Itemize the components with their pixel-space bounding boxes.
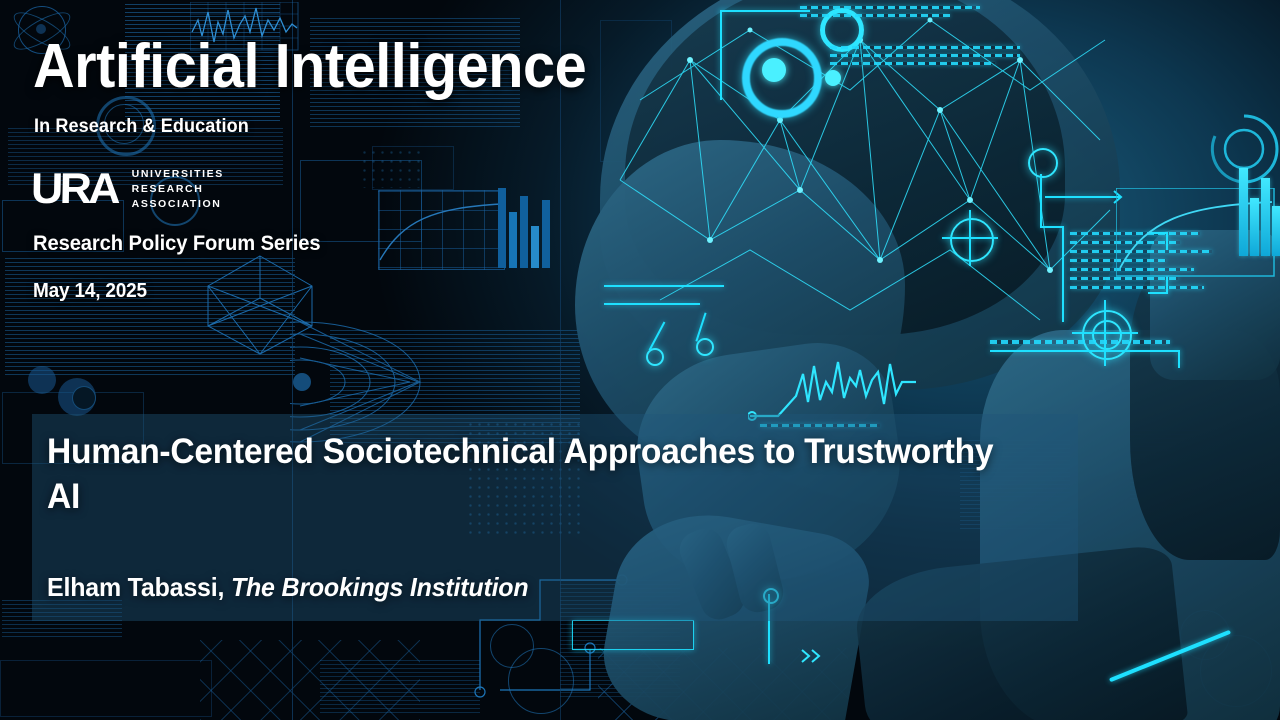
- ura-logo-text: UNIVERSITIES RESEARCH ASSOCIATION: [124, 168, 224, 212]
- hud-panel: [572, 620, 694, 650]
- hud-bracket: [1148, 292, 1168, 294]
- hud-connector: [1045, 196, 1113, 198]
- hud-bar-chart-bar: [1272, 206, 1280, 256]
- ura-logo-line-1: UNIVERSITIES: [132, 168, 224, 182]
- series-name: Research Policy Forum Series: [33, 232, 321, 256]
- hud-connector: [1040, 174, 1042, 226]
- hud-node-icon: [696, 338, 714, 356]
- presentation-slide: Artificial Intelligence In Research & Ed…: [0, 0, 1280, 720]
- hud-bracket: [1166, 276, 1168, 294]
- ura-logo-line-3: ASSOCIATION: [132, 198, 224, 212]
- deck-subtitle: In Research & Education: [34, 116, 249, 138]
- event-date: May 14, 2025: [33, 280, 147, 303]
- hud-connector: [1178, 350, 1180, 368]
- brain-node-icon: [825, 70, 841, 86]
- hud-text-row: [830, 54, 1020, 57]
- hud-bar-chart-bar: [1250, 198, 1259, 256]
- hud-connector: [604, 303, 700, 305]
- hud-connector: [720, 10, 722, 100]
- hud-text-row: [800, 14, 950, 17]
- hud-text-row: [990, 340, 1170, 344]
- speaker-organization: The Brookings Institution: [231, 572, 528, 602]
- hud-connector: [1040, 226, 1062, 228]
- ura-wordmark: URA: [31, 168, 118, 211]
- talk-speaker: Elham Tabassi, The Brookings Institution: [47, 572, 528, 603]
- hud-text-row: [830, 46, 1020, 49]
- brain-node-icon: [762, 58, 786, 82]
- ekg-waveform-overlay: [748, 352, 918, 422]
- hud-text-row: [800, 6, 980, 9]
- speaker-name: Elham Tabassi,: [47, 572, 224, 602]
- hud-node-icon: [646, 348, 664, 366]
- double-chevron-icon: [800, 648, 826, 664]
- hud-bar-chart-bar: [1239, 168, 1248, 256]
- hud-text-row: [1070, 286, 1204, 289]
- hud-connector: [604, 285, 724, 287]
- ura-logo: URA UNIVERSITIES RESEARCH ASSOCIATION: [31, 168, 224, 212]
- hud-bar-chart-bar: [1261, 178, 1270, 256]
- hud-node-icon: [1028, 148, 1058, 178]
- ura-logo-line-2: RESEARCH: [132, 183, 224, 197]
- deck-title: Artificial Intelligence: [33, 36, 586, 98]
- reticle-crosshair: [1104, 300, 1106, 366]
- hud-connector: [990, 350, 1180, 352]
- talk-title: Human-Centered Sociotechnical Approaches…: [47, 430, 1026, 520]
- reticle-crosshair: [969, 210, 971, 266]
- hud-text-row: [830, 62, 995, 65]
- hud-connector: [720, 10, 810, 12]
- targeting-reticle-icon: [950, 218, 994, 262]
- targeting-reticle-icon: [1092, 320, 1122, 350]
